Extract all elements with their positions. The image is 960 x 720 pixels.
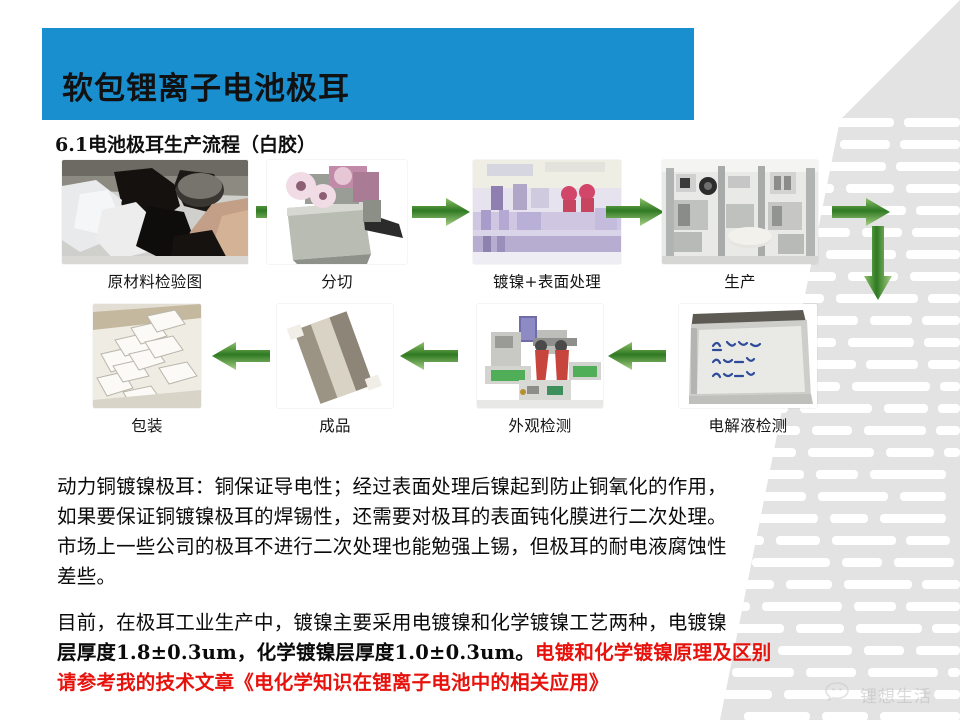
flow-node-appearance-inspection: 外观检测 [460, 304, 620, 436]
electrolyte-test-pouch-photo [679, 304, 817, 408]
flow-arrow-left-1 [212, 342, 270, 375]
flow-node-production: 生产 [660, 160, 820, 292]
flow-node-label: 分切 [262, 270, 412, 292]
production-machinery-photo [662, 160, 818, 264]
flow-node-raw-material: 原材料检验图 [60, 160, 250, 292]
flow-arrow-left-2 [400, 342, 458, 375]
flow-arrow-down [864, 226, 892, 305]
flow-node-label: 外观检测 [460, 414, 620, 436]
section-subheading: 6.1电池极耳生产流程（白胶） [55, 130, 316, 157]
flow-node-slitting: 分切 [262, 160, 412, 292]
flow-row-1: 原材料检验图 [0, 160, 960, 300]
watermark: 锂想生活 [825, 681, 932, 708]
packaging-boxes-photo [93, 304, 201, 408]
slitting-machine-photo [267, 160, 407, 264]
finished-tab-photo [277, 304, 393, 408]
raw-material-inspection-photo [62, 160, 248, 264]
flow-row-2: 包装 [0, 304, 960, 444]
flow-node-packaging: 包装 [62, 304, 232, 436]
reference-note-line1: 电镀和化学镀镍原理及区别 [535, 641, 771, 664]
flow-arrow-right-3 [606, 198, 664, 231]
paragraph-line: 差些。 [57, 562, 933, 592]
reference-note-line2: 请参考我的技术文章《电化学知识在锂离子电池中的相关应用》 [57, 668, 933, 698]
paragraph-plating-thickness: 目前，在极耳工业生产中，镀镍主要采用电镀镍和化学镀镍工艺两种，电镀镍 层厚度1.… [57, 608, 933, 698]
slide-title-bar: 软包锂离子电池极耳 [42, 28, 694, 120]
plating-thickness-text: 层厚度1.8±0.3um，化学镀镍层厚度1.0±0.3um。 [57, 641, 535, 664]
flow-node-label: 包装 [62, 414, 232, 436]
paragraph-line: 动力铜镀镍极耳：铜保证导电性；经过表面处理后镍起到防止铜氧化的作用， [57, 472, 933, 502]
appearance-inspection-machine-photo [477, 304, 603, 408]
paragraph-copper-nickel-tab: 动力铜镀镍极耳：铜保证导电性；经过表面处理后镍起到防止铜氧化的作用， 如果要保证… [57, 472, 933, 592]
paragraph-line-mixed: 层厚度1.8±0.3um，化学镀镍层厚度1.0±0.3um。电镀和化学镀镍原理及… [57, 638, 933, 668]
flow-node-electrolyte-test: 电解液检测 [658, 304, 838, 436]
slide-canvas: 软包锂离子电池极耳 6.1电池极耳生产流程（白胶） [0, 0, 960, 720]
paragraph-line: 市场上一些公司的极耳不进行二次处理也能勉强上锡，但极耳的耐电液腐蚀性 [57, 532, 933, 562]
paragraph-line: 目前，在极耳工业生产中，镀镍主要采用电镀镍和化学镀镍工艺两种，电镀镍 [57, 608, 933, 638]
nickel-plating-line-photo [473, 160, 621, 264]
flow-node-label: 成品 [270, 414, 400, 436]
page-title: 软包锂离子电池极耳 [62, 63, 350, 108]
flow-node-label: 生产 [660, 270, 820, 292]
flow-node-label: 镀镍+表面处理 [452, 270, 642, 292]
wechat-bubble-icon [825, 681, 855, 708]
paragraph-line: 如果要保证铜镀镍极耳的焊锡性，还需要对极耳的表面钝化膜进行二次处理。 [57, 502, 933, 532]
flow-node-label: 原材料检验图 [60, 270, 250, 292]
process-flow-diagram: 原材料检验图 [0, 160, 960, 444]
flow-node-label: 电解液检测 [658, 414, 838, 436]
flow-node-finished-product: 成品 [270, 304, 400, 436]
watermark-label: 锂想生活 [860, 682, 932, 707]
